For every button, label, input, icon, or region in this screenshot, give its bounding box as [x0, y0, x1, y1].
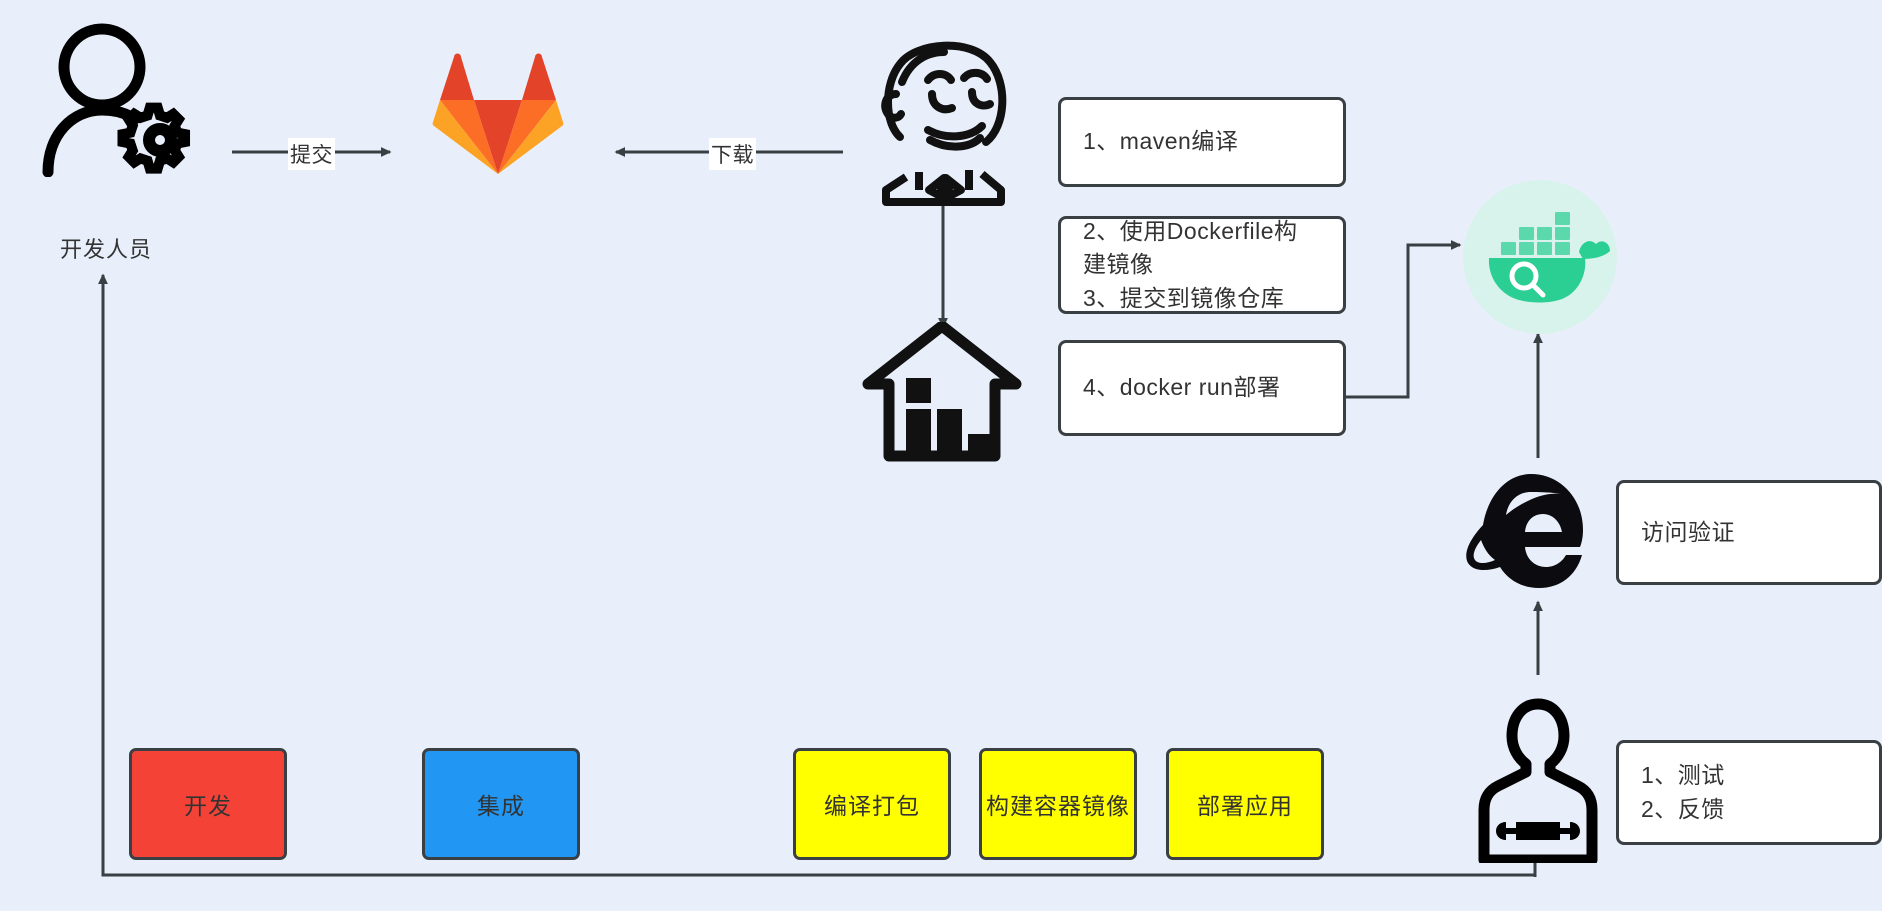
stage-build-label: 编译打包 [824, 787, 920, 821]
stage-develop-label: 开发 [184, 787, 232, 821]
user-gear-icon [40, 22, 210, 177]
jenkins-butler-icon [866, 22, 1021, 207]
edge-deploy-to-docker [1346, 245, 1460, 397]
stage-develop[interactable]: 开发 [129, 748, 287, 860]
server-house-icon [862, 322, 1022, 462]
edge-label-download: 下载 [709, 138, 756, 170]
stage-integrate-label: 集成 [477, 787, 525, 821]
docker-whale-icon [1463, 180, 1618, 335]
stage-deploy-label: 部署应用 [1197, 787, 1293, 821]
stage-image[interactable]: 构建容器镜像 [979, 748, 1137, 860]
internet-explorer-icon [1464, 460, 1599, 600]
user-wrench-icon [1478, 698, 1598, 863]
note-access: 访问验证 [1616, 480, 1882, 585]
gitlab-logo-icon [432, 52, 564, 177]
note-docker-run: 4、docker run部署 [1058, 340, 1346, 436]
stage-image-label: 构建容器镜像 [986, 787, 1130, 821]
note-dockerfile: 2、使用Dockerfile构建镜像 3、提交到镜像仓库 [1058, 216, 1346, 314]
note-maven: 1、maven编译 [1058, 97, 1346, 187]
stage-build[interactable]: 编译打包 [793, 748, 951, 860]
developer-label: 开发人员 [60, 232, 152, 264]
edge-label-commit: 提交 [288, 138, 335, 170]
stage-integrate[interactable]: 集成 [422, 748, 580, 860]
stage-deploy[interactable]: 部署应用 [1166, 748, 1324, 860]
note-test: 1、测试 2、反馈 [1616, 740, 1882, 845]
